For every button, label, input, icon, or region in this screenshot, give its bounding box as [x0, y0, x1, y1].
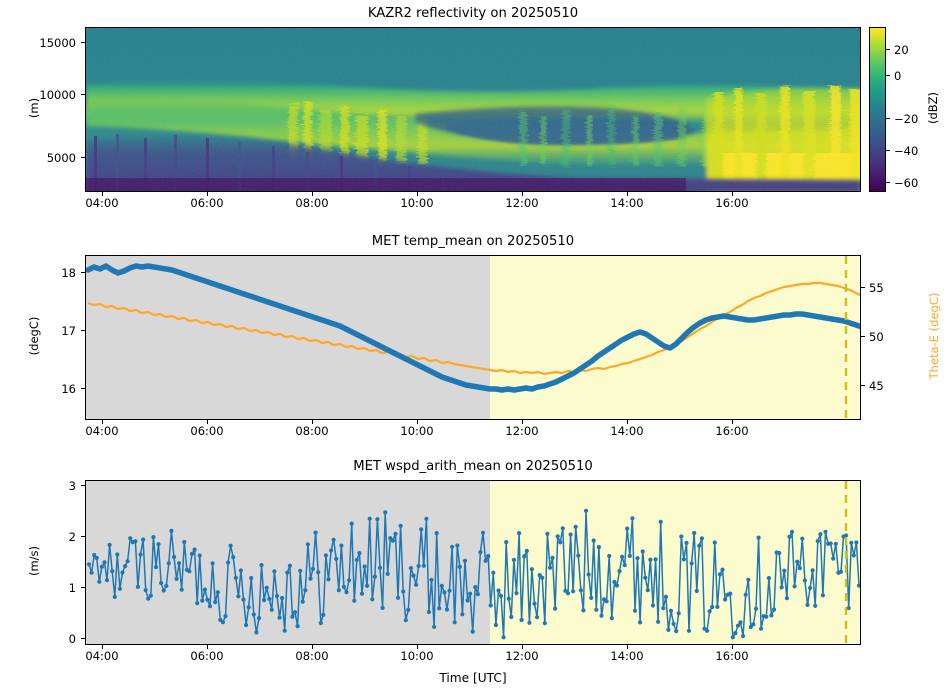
cbtick-2: −20 — [894, 112, 918, 126]
panel-title-met-wspd: MET wspd_arith_mean on 20250510 — [85, 459, 861, 474]
ytickmark-wspd-1 — [81, 587, 85, 588]
panel-title-met-temp: MET temp_mean on 20250510 — [85, 234, 861, 249]
cbtickmark-4 — [886, 182, 890, 183]
ytick-temp-0: 16 — [40, 382, 76, 396]
xtickmark-kazr2-1 — [207, 192, 208, 196]
ytickmark-temp-0 — [81, 388, 85, 389]
xtick-kazr2-4: 12:00 — [482, 196, 562, 210]
xtickmark-temp-4 — [522, 420, 523, 424]
ytickmark-temp-2 — [81, 272, 85, 273]
xtick-temp-0: 04:00 — [62, 424, 142, 438]
cbtickmark-2 — [886, 118, 890, 119]
colorbar-reflectivity — [869, 27, 886, 192]
xtick-kazr2-2: 08:00 — [272, 196, 352, 210]
xtick-kazr2-3: 10:00 — [377, 196, 457, 210]
xtickmark-wspd-0 — [102, 645, 103, 649]
ytick-temp-1: 17 — [40, 324, 76, 338]
ytickmark-wspd-0 — [81, 638, 85, 639]
xtickmark-wspd-5 — [627, 645, 628, 649]
xtick-temp-2: 08:00 — [272, 424, 352, 438]
ytick-wspd-2: 2 — [50, 530, 76, 544]
ytickmark-temp-1 — [81, 330, 85, 331]
reflectivity-image — [86, 28, 861, 192]
xtickmark-wspd-3 — [417, 645, 418, 649]
ylabel-kazr2: (m) — [27, 68, 41, 148]
ytick-kazr2-0: 5000 — [24, 151, 76, 165]
xtick-wspd-2: 08:00 — [272, 649, 352, 663]
xtickmark-wspd-2 — [312, 645, 313, 649]
xtick-kazr2-5: 14:00 — [587, 196, 667, 210]
cbtickmark-3 — [886, 150, 890, 151]
cbtickmark-1 — [886, 75, 890, 76]
cbtick-4: −60 — [894, 176, 918, 190]
axes-met-wspd — [85, 480, 861, 645]
ytick-wspd-3: 3 — [50, 479, 76, 493]
temp-plot — [86, 256, 861, 420]
ytickmark-kazr2-0 — [81, 157, 85, 158]
xtickmark-kazr2-0 — [102, 192, 103, 196]
ytick-wspd-0: 0 — [50, 632, 76, 646]
xtickmark-temp-1 — [207, 420, 208, 424]
xtick-temp-5: 14:00 — [587, 424, 667, 438]
xtick-temp-1: 06:00 — [167, 424, 247, 438]
xtickmark-wspd-6 — [732, 645, 733, 649]
axes-met-temp — [85, 255, 861, 420]
xtickmark-wspd-4 — [522, 645, 523, 649]
xtick-wspd-4: 12:00 — [482, 649, 562, 663]
ytick-kazr2-1: 10000 — [24, 88, 76, 102]
xtick-wspd-1: 06:00 — [167, 649, 247, 663]
colorbar-label: (dBZ) — [926, 68, 940, 148]
cbtick-0: 20 — [894, 43, 909, 57]
ylabel-met-wspd: (m/s) — [27, 521, 41, 601]
xtickmark-kazr2-4 — [522, 192, 523, 196]
ytickmark-wspd-3 — [81, 485, 85, 486]
xtick-temp-4: 12:00 — [482, 424, 562, 438]
matplotlib-figure: KAZR2 reflectivity on 20250510 — [0, 0, 948, 699]
xtickmark-temp-5 — [627, 420, 628, 424]
xtick-wspd-6: 16:00 — [692, 649, 772, 663]
xtickmark-temp-3 — [417, 420, 418, 424]
ytickmark-kazr2-1 — [81, 94, 85, 95]
rtick-thetae-2: 55 — [869, 281, 905, 295]
xtick-wspd-5: 14:00 — [587, 649, 667, 663]
ytickmark-kazr2-2 — [81, 42, 85, 43]
cbtick-1: 0 — [894, 69, 901, 83]
xtickmark-temp-2 — [312, 420, 313, 424]
cbtick-3: −40 — [894, 144, 918, 158]
xtickmark-kazr2-2 — [312, 192, 313, 196]
axes-kazr2 — [85, 27, 861, 192]
rtickmark-thetae-0 — [861, 385, 865, 386]
ytickmark-wspd-2 — [81, 536, 85, 537]
xtick-wspd-3: 10:00 — [377, 649, 457, 663]
xtickmark-temp-6 — [732, 420, 733, 424]
shade-pre-frontal — [86, 256, 490, 420]
shade-post-frontal-wspd — [490, 481, 861, 645]
rlabel-theta-e: Theta-E (degC) — [927, 266, 941, 406]
ylabel-met-temp: (degC) — [27, 296, 41, 376]
panel-title-kazr2: KAZR2 reflectivity on 20250510 — [85, 6, 861, 21]
xtickmark-kazr2-5 — [627, 192, 628, 196]
shade-post-frontal — [490, 256, 861, 420]
xtickmark-temp-0 — [102, 420, 103, 424]
rtick-thetae-0: 45 — [869, 379, 905, 393]
xtickmark-kazr2-6 — [732, 192, 733, 196]
ytick-wspd-1: 1 — [50, 581, 76, 595]
xtick-kazr2-0: 04:00 — [62, 196, 142, 210]
xtick-kazr2-6: 16:00 — [692, 196, 772, 210]
xtickmark-kazr2-3 — [417, 192, 418, 196]
ytick-temp-2: 18 — [40, 266, 76, 280]
ytick-kazr2-2: 15000 — [24, 36, 76, 50]
rtickmark-thetae-2 — [861, 287, 865, 288]
radar-noise-texture — [86, 28, 861, 192]
xtickmark-wspd-1 — [207, 645, 208, 649]
shade-pre-frontal-wspd — [86, 481, 490, 645]
xtick-wspd-0: 04:00 — [62, 649, 142, 663]
xlabel-time: Time [UTC] — [85, 671, 861, 685]
xtick-temp-6: 16:00 — [692, 424, 772, 438]
xtick-kazr2-1: 06:00 — [167, 196, 247, 210]
rtick-thetae-1: 50 — [869, 330, 905, 344]
wspd-plot — [86, 481, 861, 645]
xtick-temp-3: 10:00 — [377, 424, 457, 438]
rtickmark-thetae-1 — [861, 336, 865, 337]
cbtickmark-0 — [886, 49, 890, 50]
